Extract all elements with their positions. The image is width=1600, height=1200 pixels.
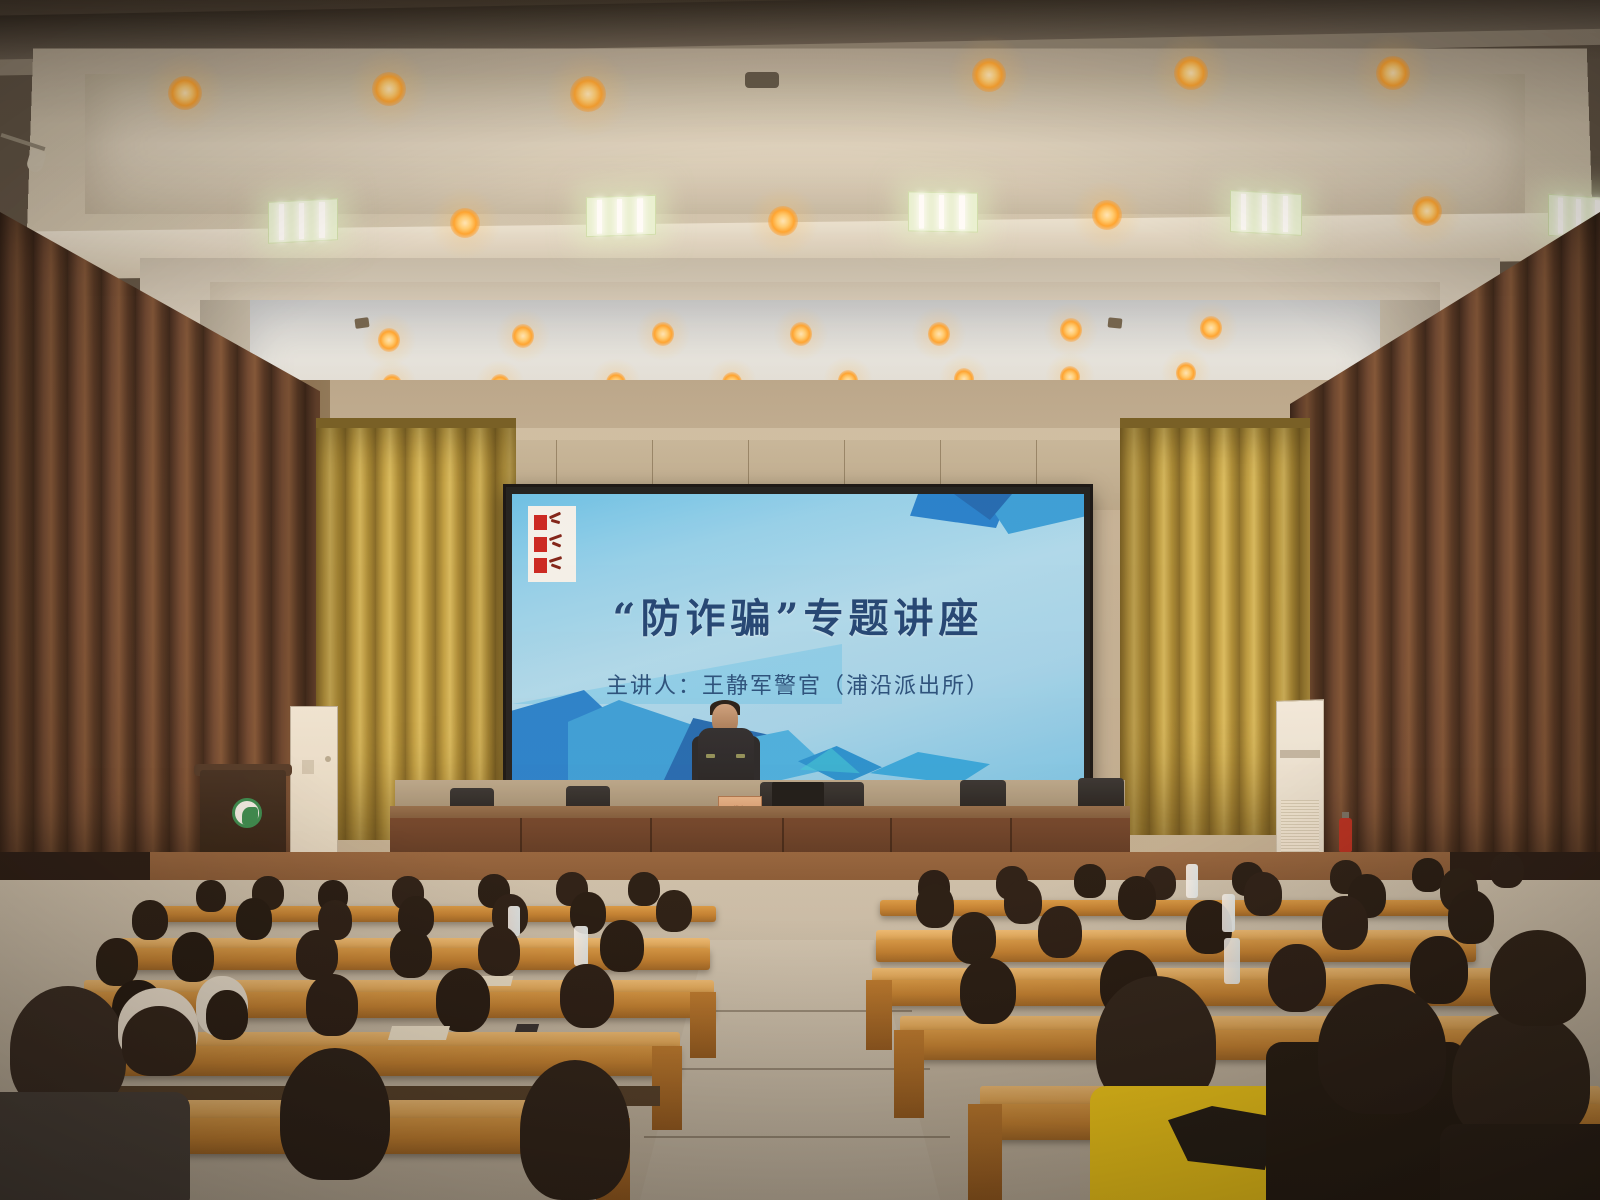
ceiling-spotlight	[1174, 56, 1208, 90]
smoke-detector-icon	[1108, 317, 1123, 328]
audience-head	[960, 958, 1016, 1024]
ceiling-spotlight	[168, 76, 202, 110]
open-book	[388, 1026, 450, 1040]
audience-head-foreground	[1490, 930, 1586, 1026]
podium-emblem-icon	[232, 798, 262, 828]
fluorescent-panel	[586, 195, 656, 237]
stage-downlight	[512, 324, 534, 348]
curtain-rod	[1120, 418, 1310, 428]
audience-head-foreground	[280, 1048, 390, 1180]
fluorescent-panel	[908, 191, 978, 232]
audience-head	[600, 920, 644, 972]
bench-end-panel	[866, 980, 892, 1050]
audience-head-foreground	[1318, 984, 1446, 1114]
audience-head	[436, 968, 490, 1032]
ceiling-spotlight	[372, 72, 406, 106]
ceiling-spotlight	[768, 206, 798, 236]
audience-head	[1268, 944, 1326, 1012]
audience-head-foreground	[122, 1006, 196, 1076]
aisle-step-line	[658, 1068, 930, 1070]
ceiling-spotlight	[1376, 56, 1410, 90]
audience-head	[172, 932, 214, 982]
fire-extinguisher	[1339, 818, 1352, 852]
curtain-rod	[316, 418, 516, 428]
stage-downlight	[928, 322, 950, 346]
auditorium-photo: “防诈骗”专题讲座 主讲人：王静军警官（浦沿派出所） 讲台	[0, 0, 1600, 1200]
water-bottle	[1224, 938, 1240, 984]
audience-body-foreground	[1440, 1124, 1600, 1200]
audience-head	[478, 926, 520, 976]
audience-head	[1448, 890, 1494, 944]
stage-downlight	[652, 322, 674, 346]
bench-end-panel	[894, 1030, 924, 1118]
audience-head	[1074, 864, 1106, 898]
air-conditioner-grille	[1281, 800, 1319, 856]
audience-head	[306, 974, 358, 1036]
ceiling-spotlight	[1092, 200, 1122, 230]
audience-head	[952, 912, 996, 964]
audience-head	[628, 872, 660, 906]
audience-head	[1118, 876, 1156, 920]
audience-head	[1038, 906, 1082, 958]
stage-downlight	[378, 328, 400, 352]
bench-end-panel	[968, 1104, 1002, 1200]
audience-head	[296, 930, 338, 980]
water-bottle	[1186, 864, 1198, 898]
fluorescent-panel	[268, 198, 338, 244]
phone-on-desk	[515, 1024, 539, 1032]
audience-head	[1004, 880, 1042, 924]
stage-curtain-left	[316, 420, 516, 840]
bench-end-panel	[690, 992, 716, 1058]
ceiling-spotlight	[450, 208, 480, 238]
door-plate	[302, 760, 314, 774]
ceiling-projector	[745, 72, 779, 88]
service-door[interactable]	[290, 706, 338, 858]
slide-logo	[528, 506, 576, 582]
audience-head-foreground	[520, 1060, 630, 1200]
audience-head	[1322, 896, 1368, 950]
water-bottle	[1222, 894, 1235, 932]
audience-head	[1244, 872, 1282, 916]
aisle-step-line	[644, 1136, 950, 1138]
audience-head	[916, 884, 954, 928]
audience-head	[196, 880, 226, 912]
audience-head	[560, 964, 614, 1028]
audience-head	[390, 928, 432, 978]
ceiling-spotlight	[972, 58, 1006, 92]
audience-head	[1410, 936, 1468, 1004]
ceiling-spotlight	[1412, 196, 1442, 226]
audience-head	[656, 890, 692, 932]
audience-head	[1490, 852, 1524, 888]
stage-downlight	[1200, 316, 1222, 340]
water-bottle	[574, 926, 588, 966]
audience-body-foreground	[0, 1092, 190, 1200]
slide-title: “防诈骗”专题讲座	[512, 586, 1084, 644]
slide-subtitle: 主讲人：王静军警官（浦沿派出所）	[512, 668, 1084, 700]
stage-downlight	[1060, 318, 1082, 342]
audience-head	[132, 900, 168, 940]
ceiling-spotlight	[570, 76, 606, 112]
stage-downlight	[790, 322, 812, 346]
air-conditioner-vent	[1280, 750, 1320, 758]
fluorescent-panel	[1230, 190, 1302, 236]
audience-head	[96, 938, 138, 986]
audience-head	[236, 898, 272, 940]
door-knob[interactable]	[325, 756, 331, 762]
audience-head	[206, 990, 248, 1040]
